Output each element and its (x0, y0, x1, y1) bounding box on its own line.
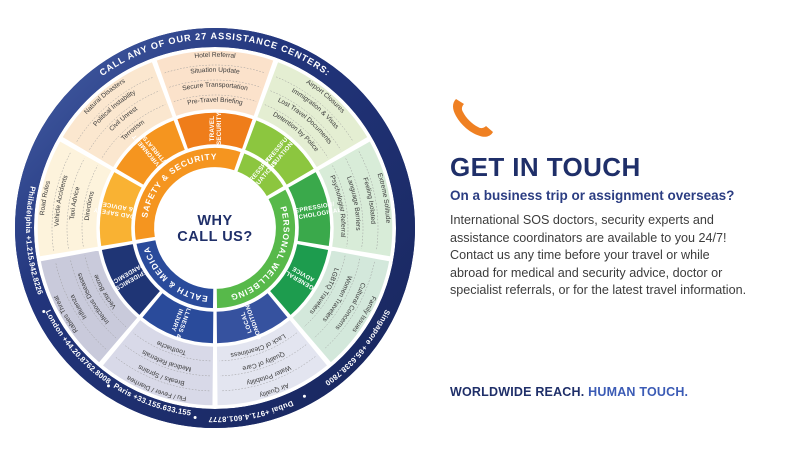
page-title: GET IN TOUCH (450, 152, 790, 183)
tagline: WORLDWIDE REACH. HUMAN TOUCH. (450, 385, 790, 399)
wheel-svg: CALL ANY OF OUR 27 ASSISTANCE CENTERS:Si… (0, 0, 430, 450)
subheading: On a business trip or assignment oversea… (450, 188, 790, 203)
svg-text:SECURITY: SECURITY (216, 112, 223, 145)
tagline-light: HUMAN TOUCH. (588, 385, 688, 399)
phone-handset-icon (450, 95, 500, 140)
tagline-dark: WORLDWIDE REACH. (450, 385, 584, 399)
svg-text:TRAVEL: TRAVEL (209, 116, 216, 141)
body-text: International SOS doctors, security expe… (450, 212, 750, 300)
get-in-touch-panel: GET IN TOUCH On a business trip or assig… (450, 0, 790, 450)
svg-text:WHY: WHY (197, 213, 232, 229)
why-call-us-wheel: CALL ANY OF OUR 27 ASSISTANCE CENTERS:Si… (0, 0, 430, 450)
svg-text:CALL US?: CALL US? (177, 229, 252, 245)
